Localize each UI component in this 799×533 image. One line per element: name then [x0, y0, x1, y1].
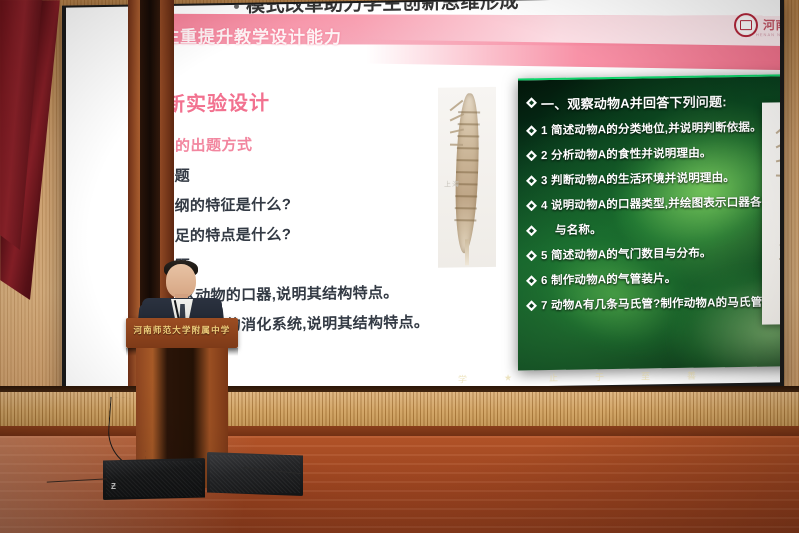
slide-pink-swoosh [366, 40, 780, 71]
green-panel-list: 一、观察动物A并回答下列问题: 1 简述动物A的分类地位,并说明判断依据。 2 … [526, 90, 780, 323]
insect-tail [465, 239, 469, 265]
green-panel-title-row: 一、观察动物A并回答下列问题: [526, 90, 780, 114]
green-panel-item-text: 4 说明动物A的口器类型,并绘图表示口器各部分结构 [541, 193, 780, 213]
footer-glyph: 于 [595, 370, 606, 383]
specimen-photo-right [762, 102, 780, 325]
green-panel-item: 3 判断动物A的生活环境并说明理由。 [526, 168, 780, 189]
green-panel-item: 6 制作动物A的气管装片。 [526, 268, 780, 289]
green-panel-item: 2 分析动物A的食性并说明理由。 [526, 143, 780, 164]
green-panel-item-text: 6 制作动物A的气管装片。 [541, 270, 677, 288]
stage-monitor-speaker-left: Ƶ [103, 458, 205, 500]
bullet-dot-icon [234, 4, 239, 9]
university-logo-text: 河南师范大学 [763, 19, 780, 31]
diamond-bullet-icon [526, 97, 537, 108]
green-panel-item-text: 与名称。 [541, 221, 602, 238]
green-panel-item: 7 动物A有几条马氏管?制作动物A的马氏管装片。 [526, 293, 780, 314]
diamond-bullet-icon [526, 225, 537, 236]
university-crest-icon [734, 13, 758, 37]
green-panel-item: 与名称。 [526, 218, 780, 239]
diamond-bullet-icon [526, 300, 537, 311]
slide-green-panel: 一、观察动物A并回答下列问题: 1 简述动物A的分类地位,并说明判断依据。 2 … [518, 74, 780, 371]
green-panel-item-text: 7 动物A有几条马氏管?制作动物A的马氏管装片。 [541, 293, 780, 313]
green-panel-item: 4 说明动物A的口器类型,并绘图表示口器各部分结构 [526, 193, 780, 214]
insect-body [778, 110, 780, 306]
green-panel-item-text: 5 简述动物A的气门数目与分布。 [541, 244, 712, 263]
green-panel-title: 一、观察动物A并回答下列问题: [541, 91, 727, 113]
conference-photo-scene: 模式改革助力学生创新思维形成 注重提升教学设计能力 河南师范大学 HENAN N… [0, 0, 799, 533]
green-panel-item-text: 3 判断动物A的生活环境并说明理由。 [541, 169, 735, 188]
university-logo-subtitle: HENAN NORMAL UNIVERSITY [756, 32, 780, 37]
diamond-bullet-icon [526, 125, 537, 136]
footer-glyph: ★ [504, 372, 514, 383]
diamond-bullet-icon [526, 150, 537, 161]
speaker-brand-logo: Ƶ [111, 482, 119, 491]
diamond-bullet-icon [526, 175, 537, 186]
footer-glyph: 善 [687, 368, 698, 381]
photo-watermark: 上海 [444, 179, 460, 189]
diamond-bullet-icon [526, 200, 537, 211]
green-panel-item-text: 1 简述动物A的分类地位,并说明判断依据。 [541, 119, 762, 138]
specimen-photo-left: 上海 [438, 87, 496, 268]
green-panel-item-text: 2 分析动物A的食性并说明理由。 [541, 144, 712, 163]
slide-footer: 学 ★ 止 于 至 善 [458, 368, 698, 386]
slide-band-label: 注重提升教学设计能力 [162, 22, 342, 48]
presenter-head [166, 264, 196, 298]
footer-glyph: 学 [458, 372, 469, 385]
footer-glyph: 止 [549, 370, 560, 383]
lectern-label: 河南师范大学附属中学 [126, 324, 238, 336]
green-panel-item: 1 简述动物A的分类地位,并说明判断依据。 [526, 118, 780, 139]
diamond-bullet-icon [526, 250, 537, 261]
speaker-grille [106, 461, 202, 497]
green-panel-item: 5 简述动物A的气门数目与分布。 [526, 243, 780, 264]
diamond-bullet-icon [526, 275, 537, 286]
footer-glyph: 至 [641, 369, 652, 382]
